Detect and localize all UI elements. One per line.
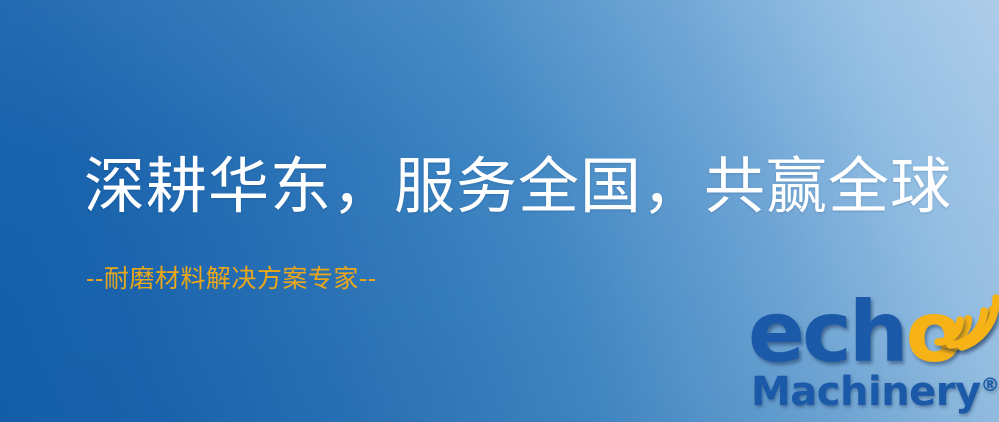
logo-brand-machinery: Machinery® bbox=[751, 372, 999, 412]
logo-brand-echo-primary: ech bbox=[748, 283, 906, 381]
signal-waves-icon bbox=[934, 292, 998, 350]
logo-brand-machinery-label: Machinery bbox=[751, 369, 981, 415]
registered-trademark-icon: ® bbox=[981, 374, 999, 396]
page-title: 深耕华东，服务全国，共赢全球 bbox=[84, 152, 952, 222]
logo-brand-echo: echo bbox=[748, 290, 960, 374]
page-subtitle: --耐磨材料解决方案专家-- bbox=[86, 264, 377, 294]
company-logo[interactable]: echo Machinery® bbox=[748, 296, 994, 422]
hero-banner: 深耕华东，服务全国，共赢全球 --耐磨材料解决方案专家-- echo bbox=[0, 0, 999, 422]
